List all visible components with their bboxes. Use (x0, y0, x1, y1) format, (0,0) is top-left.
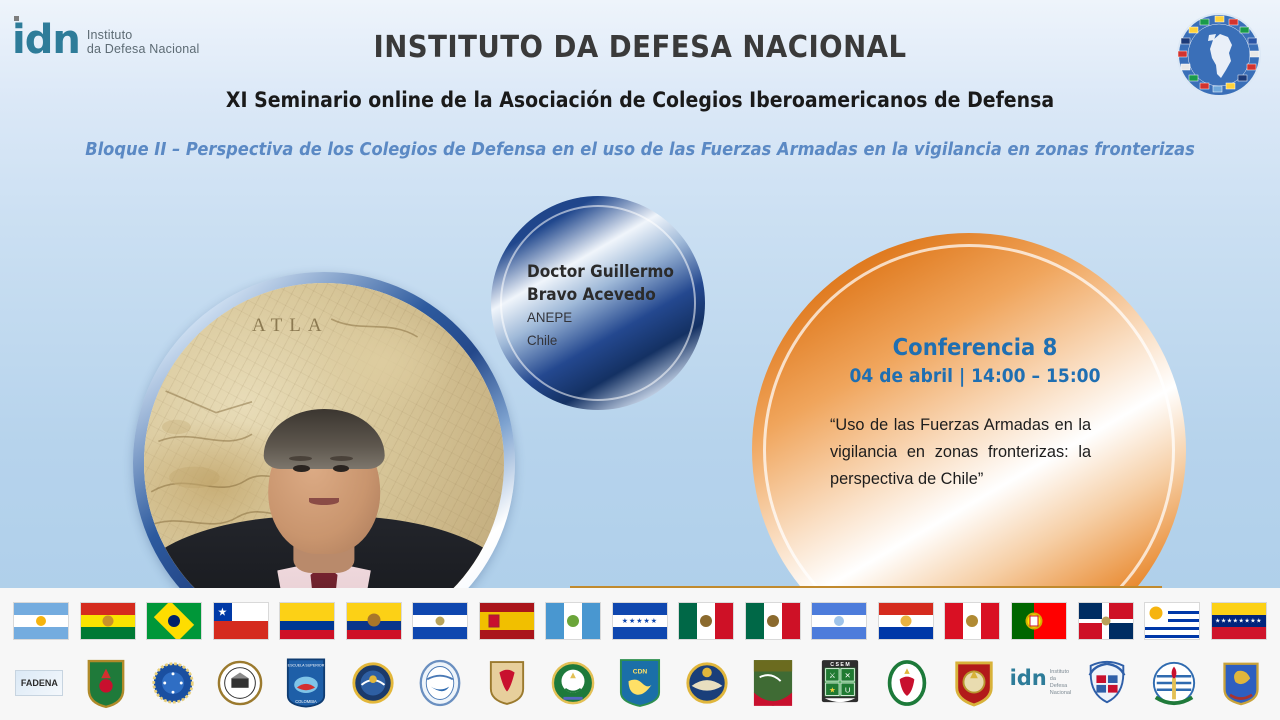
flag-honduras: ★★★★★ (612, 602, 668, 640)
conference-number: Conferencia 8 (842, 333, 1109, 363)
speaker-institution: ANEPE (527, 306, 698, 329)
crest-guatemala-college (549, 655, 597, 711)
hair (264, 409, 385, 469)
seminar-title: XI Seminario online de la Asociación de … (64, 88, 1216, 112)
crest-uruguay-calen (1150, 655, 1198, 711)
crest-venezuela-college (1217, 655, 1265, 711)
crest-peru-college (950, 655, 998, 711)
flag-brazil (146, 602, 202, 640)
crest-paraguay-csem: C S E M⚔✕★U (816, 655, 864, 711)
flag-argentina (13, 602, 69, 640)
flag-chile (213, 602, 269, 640)
block-title: Bloque II – Perspectiva de los Colegios … (45, 140, 1235, 160)
svg-text:ESCUELA SUPERIOR: ESCUELA SUPERIOR (288, 664, 325, 668)
speaker-name-line2: Bravo Acevedo (527, 283, 694, 306)
flag-mexico-2 (745, 602, 801, 640)
crest-honduras-cdn: CDN (616, 655, 664, 711)
svg-text:CDN: CDN (633, 668, 648, 675)
conference-datetime: 04 de abril | 14:00 – 15:00 (845, 363, 1106, 389)
crest-dominican-republic-indesur (1083, 655, 1131, 711)
flag-el-salvador (412, 602, 468, 640)
flag-guatemala (545, 602, 601, 640)
flag-dominican-republic (1078, 602, 1134, 640)
conference-talk-title: “Uso de las Fuerzas Armadas en la vigila… (830, 411, 1091, 492)
crest-colombia-esdegue: ESCUELA SUPERIORCOLOMBIA (282, 655, 330, 711)
svg-text:C S E M: C S E M (830, 662, 850, 668)
flag-bolivia (80, 602, 136, 640)
eye-left (293, 465, 309, 472)
speaker-country: Chile (527, 329, 698, 352)
svg-text:U: U (845, 686, 851, 695)
flag-strip: ★★★★★ (0, 594, 1280, 648)
eye-right (333, 465, 349, 472)
crest-brazil-esg (149, 655, 197, 711)
crest-chile-anepe (216, 655, 264, 711)
flag-portugal (1011, 602, 1067, 640)
flag-uruguay (1144, 602, 1200, 640)
conference-info: Conferencia 8 04 de abril | 14:00 – 15:0… (830, 333, 1120, 492)
crest-fadena: FADENA (15, 655, 63, 711)
eyebrow-right (330, 456, 353, 461)
page-title: INSTITUTO DA DEFESA NACIONAL (51, 30, 1229, 65)
speaker-info: Doctor Guillermo Bravo Acevedo ANEPE Chi… (527, 260, 707, 352)
crest-idn-portugal: idnInstitutoda Defesa Nacional (1016, 655, 1064, 711)
flag-peru (944, 602, 1000, 640)
institution-crest-strip: FADENAESCUELA SUPERIORCOLOMBIACDNC S E M… (0, 648, 1280, 718)
footer-bar: ★★★★★ (0, 588, 1280, 720)
slide-canvas: idn Instituto da Defesa Nacional (0, 0, 1280, 720)
svg-text:★: ★ (829, 686, 836, 695)
flag-mexico (678, 602, 734, 640)
crest-nicaragua-college (749, 655, 797, 711)
crest-ecuador-defense-college (349, 655, 397, 711)
crest-mexico-college (683, 655, 731, 711)
svg-text:COLOMBIA: COLOMBIA (296, 699, 318, 704)
speaker-name-line1: Doctor Guillermo (527, 260, 694, 283)
flag-nicaragua (811, 602, 867, 640)
flag-ecuador (346, 602, 402, 640)
flag-colombia (279, 602, 335, 640)
svg-text:⚔: ⚔ (829, 671, 836, 680)
flag-spain (479, 602, 535, 640)
flag-venezuela: ★★★★★★★★ (1211, 602, 1267, 640)
crest-spain-ceseden (483, 655, 531, 711)
crest-el-salvador-college (416, 655, 464, 711)
flag-paraguay (878, 602, 934, 640)
eyebrow-left (289, 456, 312, 461)
svg-text:✕: ✕ (845, 671, 851, 680)
idn-dot-accent (14, 16, 19, 21)
crest-peru-caen (883, 655, 931, 711)
crest-bolivia-defense-college (82, 655, 130, 711)
